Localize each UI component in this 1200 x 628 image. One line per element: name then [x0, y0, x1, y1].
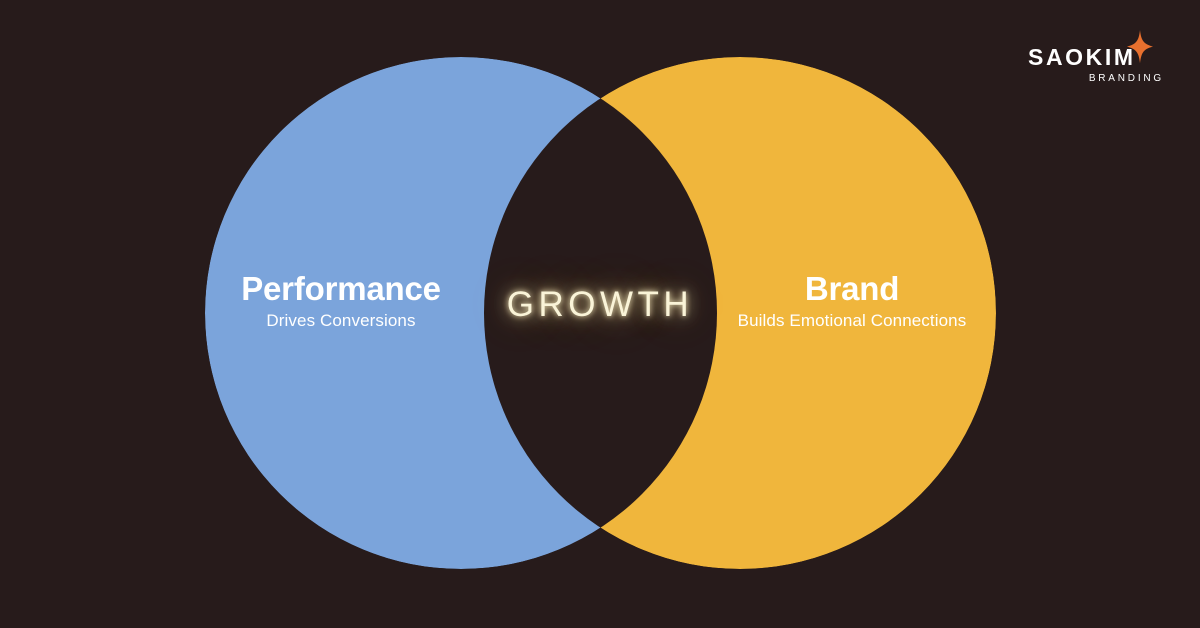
growth-label-group: GROWTH	[478, 285, 722, 325]
logo-tagline: BRANDING	[1089, 73, 1164, 84]
brand-label-group: Brand Builds Emotional Connections	[716, 272, 988, 329]
brand-subtitle: Builds Emotional Connections	[716, 312, 988, 329]
performance-label-group: Performance Drives Conversions	[205, 272, 477, 329]
growth-label: GROWTH	[507, 285, 693, 324]
performance-subtitle: Drives Conversions	[205, 312, 477, 329]
four-point-star-icon	[1120, 28, 1160, 68]
performance-title: Performance	[205, 272, 477, 305]
slide-canvas: Performance Drives Conversions GROWTH Br…	[0, 0, 1200, 628]
brand-logo: SAOKIM BRANDING	[1028, 28, 1168, 90]
brand-title: Brand	[716, 272, 988, 305]
